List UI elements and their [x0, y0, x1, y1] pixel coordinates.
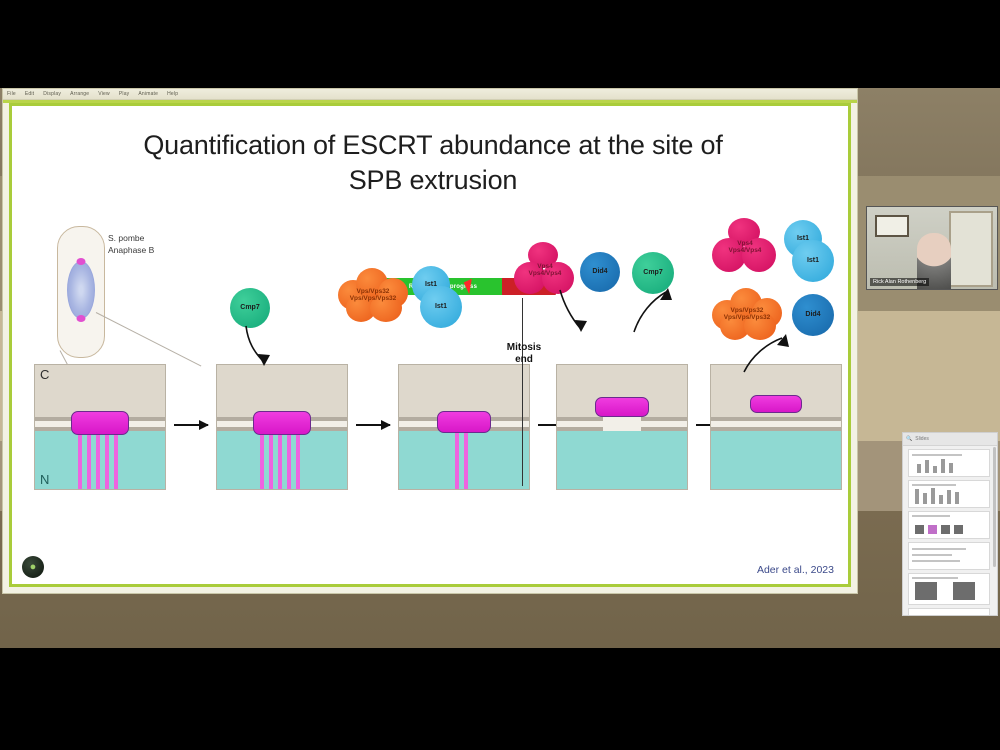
video-letterbox-bottom: [0, 648, 1000, 750]
mitosis-end-label: Mitosis end: [494, 342, 554, 366]
mitosis-end-divider: [522, 298, 523, 486]
pathway-panel-3: [398, 364, 530, 490]
menu-item-view[interactable]: View: [98, 91, 110, 97]
menu-item-display[interactable]: Display: [43, 91, 61, 97]
slide-title-line-1: Quantification of ESCRT abundance at the…: [52, 128, 814, 163]
recruit-arrow-cmp7-step2: [224, 324, 294, 372]
complex-label: Ist1: [807, 257, 819, 265]
webcam-tile[interactable]: Rick Alan Rothenberg: [866, 206, 998, 290]
spb-plug: [595, 397, 649, 417]
mitosis-end-line-1: Mitosis: [494, 342, 554, 354]
slide-thumbnail-panel[interactable]: 🔍 Slides: [902, 432, 998, 616]
complex-label: Ist1: [435, 303, 447, 311]
step-arrow-1: [174, 424, 208, 426]
spb-pole-top-icon: [77, 258, 86, 265]
application-menubar[interactable]: File Edit Display Arrange View Play Anim…: [3, 89, 857, 100]
pathway-panel-5: [710, 364, 842, 490]
complex-label: Cmp7: [643, 269, 662, 277]
complex-did4-step5: Did4: [792, 294, 834, 336]
step-arrow-2: [356, 424, 390, 426]
presenter-badge-icon[interactable]: ●: [22, 556, 44, 578]
s-pombe-cell-diagram: [57, 226, 105, 358]
complex-vps4-step5: Vps4 Vps4/Vps4: [712, 218, 778, 276]
lobe: [370, 294, 402, 322]
complex-cmp7-step2: Cmp7: [230, 288, 270, 328]
lobe: [712, 238, 746, 272]
pathway-panel-1: C N: [34, 364, 166, 490]
extrusion-gap: [603, 417, 641, 431]
presentation-window: File Edit Display Arrange View Play Anim…: [2, 88, 858, 594]
participant-name-label: Rick Alan Rothenberg: [870, 278, 929, 286]
thumbnail-slide-3[interactable]: [908, 511, 990, 539]
cytoplasm-label: C: [40, 367, 49, 382]
complex-vps32-step3: Vps/Vps32 Vps/Vps/Vps32: [336, 266, 410, 324]
menu-item-edit[interactable]: Edit: [25, 91, 34, 97]
cell-label-species: S. pombe: [108, 232, 154, 244]
slide-title-line-2: SPB extrusion: [52, 163, 814, 198]
release-arrow-step5: [736, 332, 800, 376]
video-letterbox-top: [0, 0, 1000, 88]
nucleus-region: [557, 427, 687, 489]
mouse-cursor-icon: [464, 279, 478, 295]
spb-pole-bottom-icon: [77, 315, 86, 322]
complex-did4-step4: Did4: [580, 252, 620, 292]
slide-canvas[interactable]: Quantification of ESCRT abundance at the…: [9, 103, 851, 587]
menu-item-animate[interactable]: Animate: [138, 91, 158, 97]
zoom-leader-right: [96, 312, 202, 366]
menu-item-file[interactable]: File: [7, 91, 16, 97]
escrt-pathway-figure: S. pombe Anaphase B C N: [24, 224, 842, 532]
complex-label: Did4: [592, 268, 607, 276]
menu-item-play[interactable]: Play: [119, 91, 130, 97]
magnifier-icon: 🔍: [906, 436, 912, 442]
nucleus-region: [711, 427, 841, 489]
menu-item-help[interactable]: Help: [167, 91, 178, 97]
spb-plug: [437, 411, 491, 433]
thumbnail-slide-4[interactable]: [908, 542, 990, 570]
thumbnail-panel-header: 🔍 Slides: [903, 433, 997, 446]
spb-plug: [71, 411, 129, 435]
cell-label-stage: Anaphase B: [108, 244, 154, 256]
release-arrow-cmp7-step4: [620, 286, 684, 338]
thumbnail-slide-2[interactable]: [908, 480, 990, 508]
inner-nuclear-membrane: [711, 427, 841, 431]
lobe: [742, 238, 776, 272]
screen-root: File Edit Display Arrange View Play Anim…: [0, 0, 1000, 750]
mitosis-end-line-2: end: [494, 354, 554, 366]
microtubule-bundle: [455, 425, 473, 489]
slide-title: Quantification of ESCRT abundance at the…: [52, 128, 814, 197]
door-decor: [949, 211, 993, 287]
pathway-panel-2: [216, 364, 348, 490]
complex-label: Cmp7: [240, 304, 259, 312]
spb-plug: [253, 411, 311, 435]
nucleus-label: N: [40, 472, 49, 487]
picture-frame-decor: [875, 215, 909, 237]
webcam-video: [867, 207, 997, 289]
thumbnail-panel-title: Slides: [915, 436, 929, 442]
spb-plug: [750, 395, 802, 413]
slide-citation: Ader et al., 2023: [757, 564, 834, 576]
complex-ist1-large-step5: Ist1: [792, 240, 834, 282]
thumbnail-slide-5[interactable]: [908, 573, 990, 605]
cell-label: S. pombe Anaphase B: [108, 232, 154, 257]
spindle-illustration: [67, 261, 95, 319]
thumbnail-slide-1[interactable]: [908, 449, 990, 477]
recruit-arrow-vps4-step4: [542, 288, 606, 338]
complex-label: Did4: [805, 311, 820, 319]
menu-item-arrange[interactable]: Arrange: [70, 91, 89, 97]
outer-nuclear-membrane: [711, 417, 841, 421]
thumbnail-slide-6[interactable]: [908, 608, 990, 616]
thumbnail-scrollbar[interactable]: [993, 447, 996, 567]
pathway-panel-4: [556, 364, 688, 490]
complex-ist1-large-step3: Ist1: [420, 286, 462, 328]
